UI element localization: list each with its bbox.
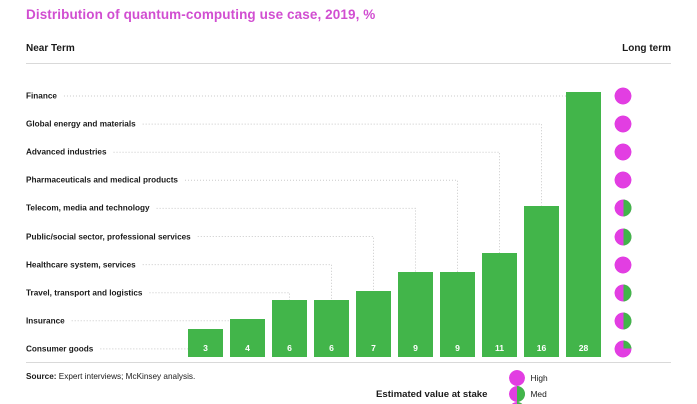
dot-green-half xyxy=(623,284,632,301)
dot-green-half xyxy=(623,312,632,329)
bar-value-label: 9 xyxy=(398,343,433,353)
legend: Estimated value at stake HighMedLow xyxy=(376,370,562,404)
leader-line xyxy=(185,180,458,272)
source-label: Source: xyxy=(26,372,56,381)
category-label: Travel, transport and logistics xyxy=(26,288,146,297)
category-label: Consumer goods xyxy=(26,344,97,353)
bar: 11 xyxy=(482,253,517,357)
category-label: Finance xyxy=(26,92,61,101)
bar-value-label: 16 xyxy=(524,343,559,353)
dot-base xyxy=(615,256,632,273)
value-at-stake-dot xyxy=(615,284,632,301)
leader-line xyxy=(72,319,248,321)
legend-swatch xyxy=(509,386,525,402)
value-at-stake-dot xyxy=(615,172,632,189)
bar: 16 xyxy=(524,206,559,357)
legend-items: HighMedLow xyxy=(509,370,561,404)
category-label: Public/social sector, professional servi… xyxy=(26,232,195,241)
legend-title: Estimated value at stake xyxy=(376,389,487,400)
source-text: Expert interviews; McKinsey analysis. xyxy=(59,372,196,381)
header-long-term: Long term xyxy=(622,43,671,54)
source-note: Source: Expert interviews; McKinsey anal… xyxy=(26,372,195,381)
category-label: Pharmaceuticals and medical products xyxy=(26,176,182,185)
legend-swatch xyxy=(509,370,525,386)
dot-base xyxy=(615,116,632,133)
bar: 9 xyxy=(440,272,475,357)
page-title: Distribution of quantum-computing use ca… xyxy=(26,7,375,22)
value-at-stake-dot xyxy=(615,256,632,273)
dot-base xyxy=(615,172,632,189)
category-label: Global energy and materials xyxy=(26,120,140,129)
value-at-stake-dot xyxy=(615,88,632,105)
leader-line xyxy=(149,293,289,301)
leader-line xyxy=(198,237,374,291)
leader-line xyxy=(143,265,332,301)
dot-green-half xyxy=(623,228,632,245)
header-near-term: Near Term xyxy=(26,43,75,54)
bar: 6 xyxy=(314,300,349,357)
bar-value-label: 7 xyxy=(356,343,391,353)
bar: 6 xyxy=(272,300,307,357)
divider-bottom xyxy=(26,362,671,363)
value-at-stake-dot xyxy=(615,340,632,357)
leader-line xyxy=(157,208,416,271)
legend-label: Med xyxy=(530,389,546,399)
value-at-stake-dot xyxy=(615,228,632,245)
bar-value-label: 3 xyxy=(188,343,223,353)
leader-line xyxy=(64,92,584,96)
bar-value-label: 6 xyxy=(314,343,349,353)
value-at-stake-dot xyxy=(615,200,632,217)
swatch-green-half xyxy=(517,386,525,402)
bar-value-label: 28 xyxy=(566,343,601,353)
swatch-base xyxy=(509,370,525,386)
legend-label: High xyxy=(530,373,547,383)
bar: 28 xyxy=(566,92,601,357)
value-at-stake-dot xyxy=(615,144,632,161)
bar-value-label: 9 xyxy=(440,343,475,353)
value-at-stake-dot xyxy=(615,116,632,133)
category-label: Advanced industries xyxy=(26,148,111,157)
category-label: Telecom, media and technology xyxy=(26,204,154,213)
leader-line xyxy=(143,124,542,206)
bar: 4 xyxy=(230,319,265,357)
legend-item: Med xyxy=(509,386,547,402)
value-at-stake-dot xyxy=(615,312,632,329)
bar: 9 xyxy=(398,272,433,357)
chart-page: Distribution of quantum-computing use ca… xyxy=(0,0,697,404)
legend-item: High xyxy=(509,370,547,386)
category-label: Healthcare system, services xyxy=(26,260,140,269)
bar-value-label: 6 xyxy=(272,343,307,353)
bar: 7 xyxy=(356,291,391,357)
dot-base xyxy=(615,144,632,161)
bar-value-label: 4 xyxy=(230,343,265,353)
divider-top xyxy=(26,63,671,64)
dot-base xyxy=(615,88,632,105)
dot-green-wedge xyxy=(623,340,632,349)
bar-value-label: 11 xyxy=(482,343,517,353)
category-label: Insurance xyxy=(26,316,69,325)
dot-green-half xyxy=(623,200,632,217)
bar: 3 xyxy=(188,329,223,357)
